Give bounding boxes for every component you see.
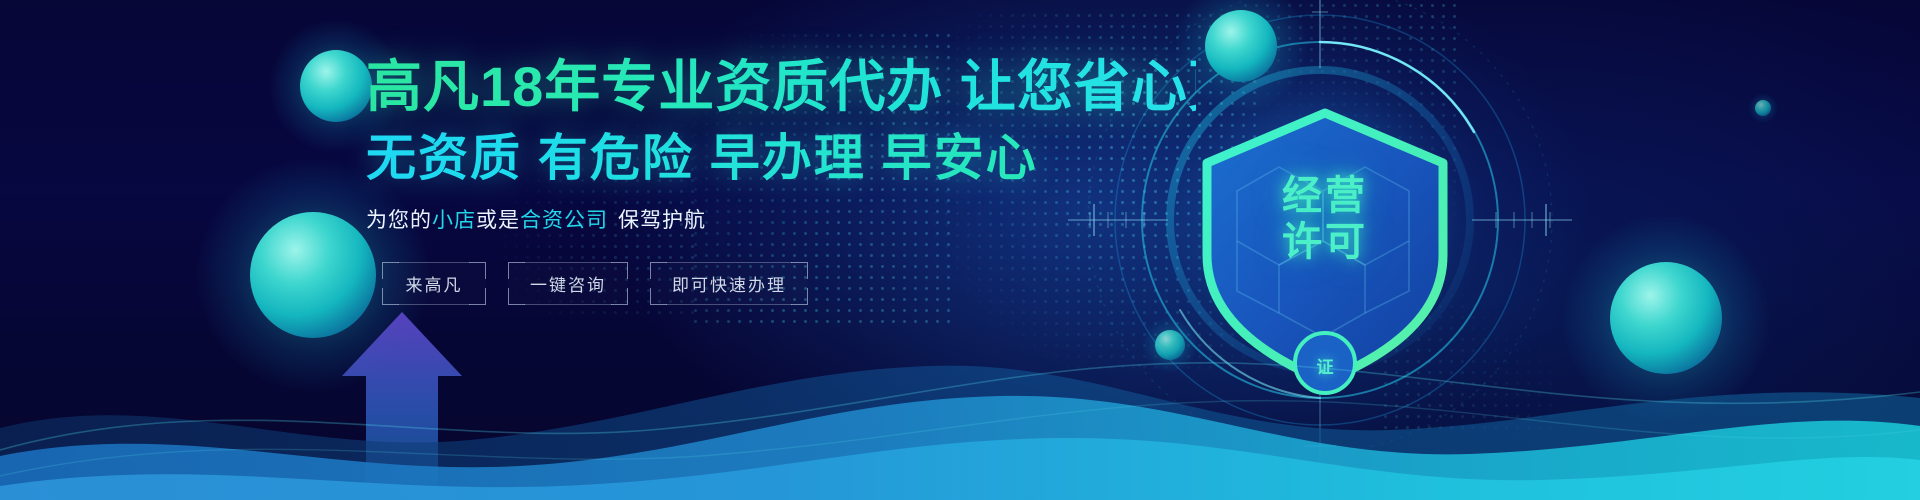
- tagline: 为您的小店或是合资公司保驾护航: [366, 208, 1196, 234]
- glow-orb-decoration: [1755, 100, 1771, 116]
- tagline-part3: 保驾护航: [618, 209, 706, 232]
- wave-decoration: [0, 280, 1920, 500]
- tagline-part2: 或是: [476, 209, 520, 232]
- glow-orb-decoration: [300, 50, 372, 122]
- promo-banner: 经营 许可 证 高凡18年专业资质代办 让您省心更省力 无资质 有危险 早办理 …: [0, 0, 1920, 500]
- tagline-part1: 为您的: [366, 209, 432, 232]
- headline: 高凡18年专业资质代办 让您省心更省力: [366, 56, 1196, 118]
- copy-block: 高凡18年专业资质代办 让您省心更省力 无资质 有危险 早办理 早安心 为您的小…: [366, 56, 1196, 234]
- tagline-highlight1: 小店: [432, 209, 476, 232]
- subheadline: 无资质 有危险 早办理 早安心: [366, 130, 1196, 186]
- tagline-highlight2: 合资公司: [520, 209, 608, 232]
